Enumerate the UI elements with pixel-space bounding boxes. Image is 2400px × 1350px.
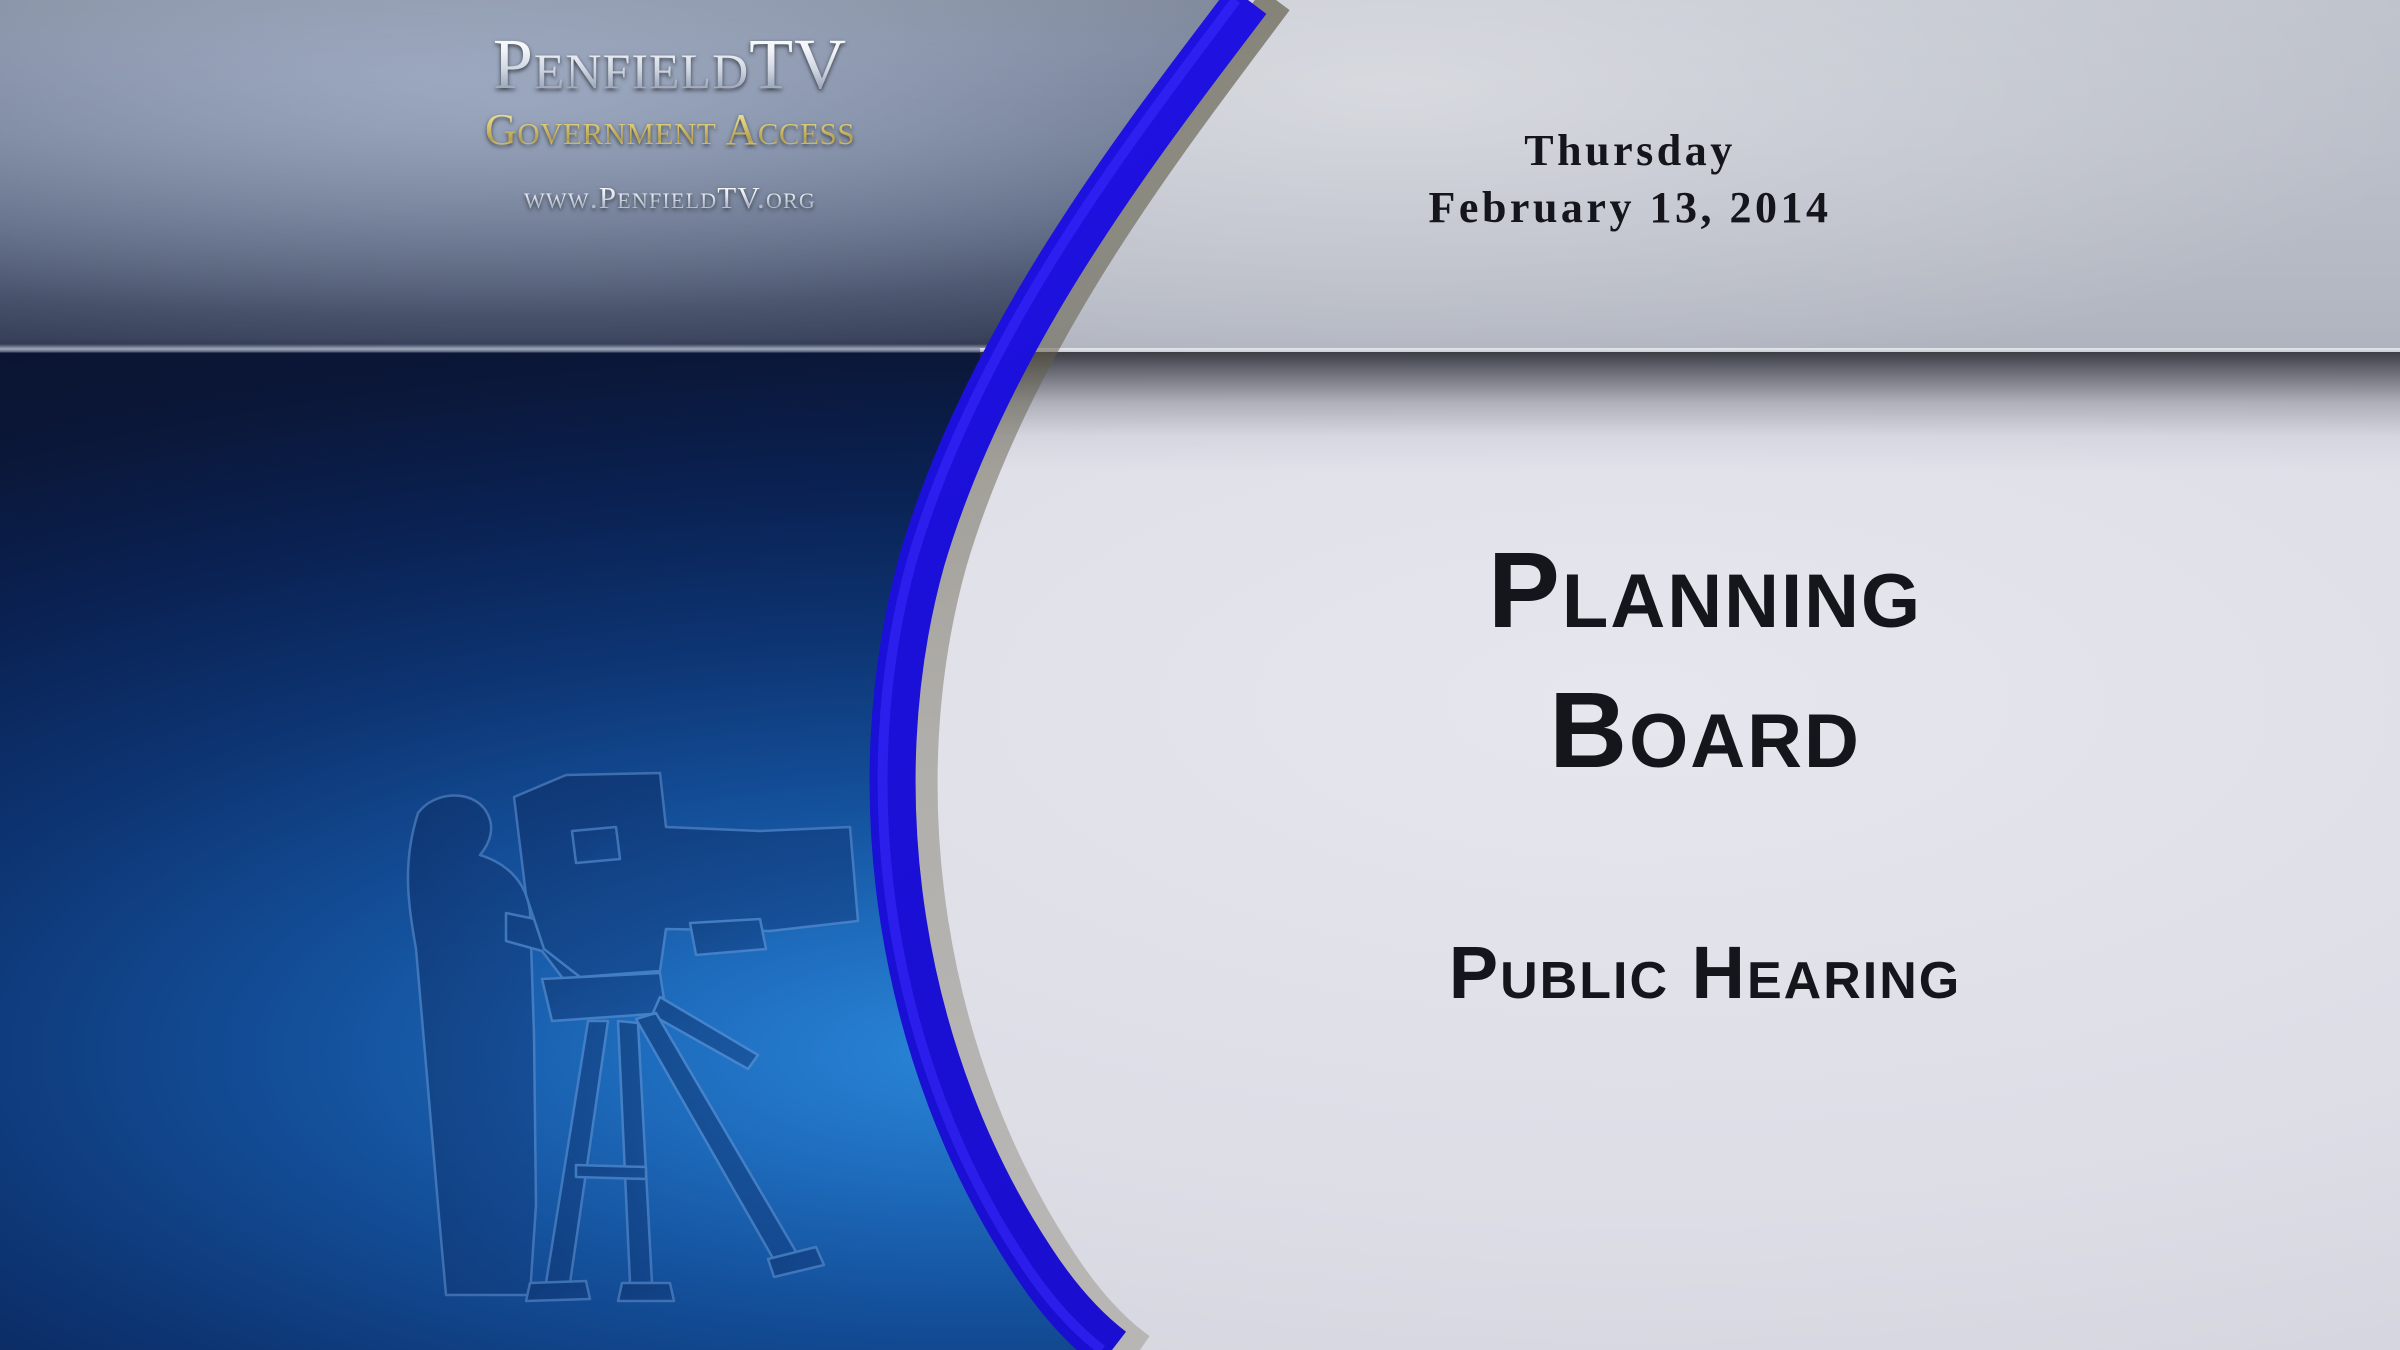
broadcast-title-card: PenfieldTV Government Access www.Penfiel… — [0, 0, 2400, 1350]
date-full: February 13, 2014 — [1250, 179, 2010, 236]
program-subtitle: Public Hearing — [1010, 930, 2400, 1015]
logo-main-title: PenfieldTV — [400, 28, 940, 100]
date-weekday: Thursday — [1250, 122, 2010, 179]
broadcast-date: Thursday February 13, 2014 — [1250, 122, 2010, 236]
program-subtitle-text: Public Hearing — [1010, 930, 2400, 1015]
logo-subtitle: Government Access — [400, 108, 940, 152]
logo-website-url: www.PenfieldTV.org — [400, 182, 940, 213]
penfieldtv-logo: PenfieldTV Government Access www.Penfiel… — [400, 28, 940, 213]
program-title-line-1: Planning — [1010, 520, 2400, 660]
program-title-line-2: Board — [1010, 660, 2400, 800]
program-title: Planning Board — [1010, 520, 2400, 801]
